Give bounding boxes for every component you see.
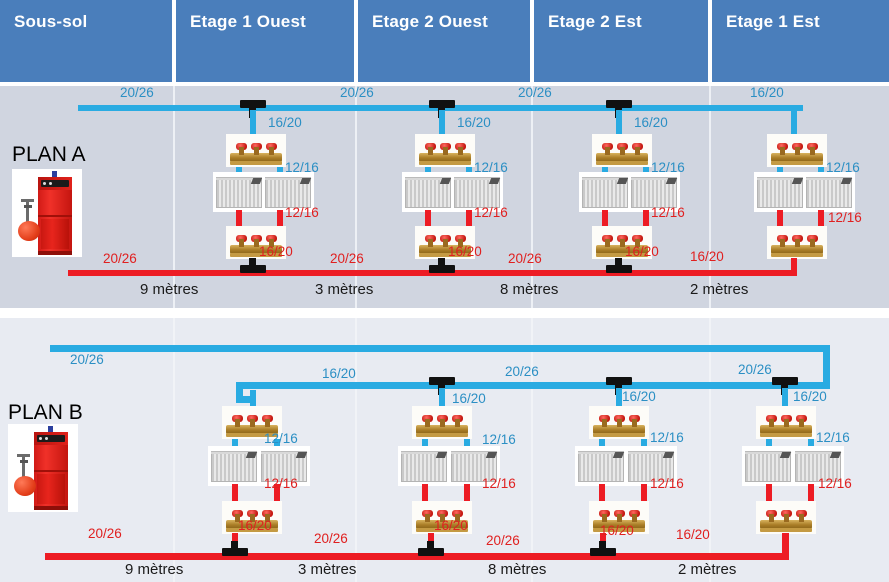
column-separator [531, 318, 533, 582]
column-separator [173, 318, 175, 582]
manifold-upper-a1 [226, 134, 286, 167]
radiator-b2-left [398, 446, 450, 486]
pipe-size-label: 20/26 [103, 251, 137, 266]
plan-b-panel: PLAN B [0, 318, 889, 582]
tee-stem-return-b3 [599, 541, 606, 553]
manifold-upper-b4 [756, 406, 816, 439]
return-main-pipe-b [45, 553, 789, 560]
plan-a-title: PLAN A [12, 143, 86, 167]
manifold-upper-b2 [412, 406, 472, 439]
pipe-size-label: 16/20 [238, 518, 272, 533]
pipe-size-label: 16/20 [676, 527, 710, 542]
pipe-size-label: 16/20 [622, 389, 656, 404]
radiator-a4-left [754, 172, 806, 212]
header-cell-etage-1-ouest: Etage 1 Ouest [176, 0, 354, 82]
pipe-size-label: 20/26 [738, 362, 772, 377]
pipe-size-label: 20/26 [508, 251, 542, 266]
pipe-size-label: 12/16 [474, 160, 508, 175]
pipe-size-label: 20/26 [486, 533, 520, 548]
pipe-size-label: 12/16 [828, 210, 862, 225]
pipe-size-label: 12/16 [482, 432, 516, 447]
tee-stem-return-b1 [231, 541, 238, 553]
radiator-a3-left [579, 172, 631, 212]
floor-header-row: Sous-sol Etage 1 Ouest Etage 2 Ouest Eta… [0, 0, 889, 82]
supply-upper-run-b [50, 345, 830, 352]
pipe-size-label: 12/16 [264, 431, 298, 446]
plan-divider [0, 308, 889, 318]
header-cell-etage-2-est: Etage 2 Est [534, 0, 708, 82]
boiler-icon-plan-a [12, 169, 82, 257]
pipe-size-label: 12/16 [818, 476, 852, 491]
radiator-a1-left [213, 172, 265, 212]
pipe-size-label: 12/16 [650, 430, 684, 445]
pipe-size-label: 16/20 [448, 244, 482, 259]
tee-stem-return-b2 [427, 541, 434, 553]
pipe-size-label: 16/20 [268, 115, 302, 130]
pipe-size-label: 20/26 [505, 364, 539, 379]
pipe-size-label: 12/16 [826, 160, 860, 175]
pipe-size-label: 16/20 [690, 249, 724, 264]
distance-label: 3 mètres [315, 281, 373, 298]
manifold-upper-a3 [592, 134, 652, 167]
header-cell-sous-sol: Sous-sol [0, 0, 172, 82]
pipe-size-label: 12/16 [650, 476, 684, 491]
pipe-size-label: 20/26 [120, 85, 154, 100]
manifold-upper-b3 [589, 406, 649, 439]
manifold-lower-a4 [767, 226, 827, 259]
pipe-size-label: 12/16 [651, 160, 685, 175]
pipe-size-label: 16/20 [452, 391, 486, 406]
header-cell-etage-1-est: Etage 1 Est [712, 0, 889, 82]
radiator-b1-left [208, 446, 260, 486]
pipe-size-label: 20/26 [314, 531, 348, 546]
pipe-size-label: 12/16 [474, 205, 508, 220]
distance-label: 8 mètres [500, 281, 558, 298]
pipe-size-label: 20/26 [70, 352, 104, 367]
distance-label: 3 mètres [298, 561, 356, 578]
pipe-size-label: 20/26 [518, 85, 552, 100]
tee-stem-return-a2 [438, 258, 445, 270]
distance-label: 8 mètres [488, 561, 546, 578]
pipe-size-label: 16/20 [457, 115, 491, 130]
pipe-size-label: 20/26 [330, 251, 364, 266]
distance-label: 9 mètres [125, 561, 183, 578]
pipe-size-label: 12/16 [264, 476, 298, 491]
radiator-b4-left [742, 446, 794, 486]
radiator-b3-left [575, 446, 627, 486]
plan-a-panel: PLAN A [0, 86, 889, 308]
pipe-size-label: 12/16 [816, 430, 850, 445]
manifold-upper-a4 [767, 134, 827, 167]
pipe-size-label: 16/20 [793, 389, 827, 404]
pipe-size-label: 16/20 [600, 523, 634, 538]
radiator-a2-left [402, 172, 454, 212]
pipe-size-label: 16/20 [322, 366, 356, 381]
pipe-size-label: 12/16 [285, 160, 319, 175]
pipe-size-label: 20/26 [88, 526, 122, 541]
distance-label: 2 mètres [678, 561, 736, 578]
pipe-size-label: 16/20 [259, 244, 293, 259]
manifold-lower-b4 [756, 501, 816, 534]
pipe-size-label: 12/16 [285, 205, 319, 220]
heating-plan-diagram: Sous-sol Etage 1 Ouest Etage 2 Ouest Eta… [0, 0, 889, 582]
boiler-icon-plan-b [8, 424, 78, 512]
supply-return-run-b [236, 382, 830, 389]
plan-b-title: PLAN B [8, 401, 83, 425]
radiator-a4-right [803, 172, 855, 212]
header-cell-etage-2-ouest: Etage 2 Ouest [358, 0, 530, 82]
pipe-size-label: 20/26 [340, 85, 374, 100]
pipe-size-label: 16/20 [625, 244, 659, 259]
column-separator [355, 318, 357, 582]
pipe-size-label: 12/16 [482, 476, 516, 491]
distance-label: 2 mètres [690, 281, 748, 298]
distance-label: 9 mètres [140, 281, 198, 298]
manifold-upper-a2 [415, 134, 475, 167]
column-separator [709, 318, 711, 582]
tee-stem-return-a1 [249, 258, 256, 270]
pipe-size-label: 16/20 [434, 518, 468, 533]
pipe-size-label: 16/20 [750, 85, 784, 100]
pipe-size-label: 16/20 [634, 115, 668, 130]
tee-stem-return-a3 [615, 258, 622, 270]
pipe-size-label: 12/16 [651, 205, 685, 220]
